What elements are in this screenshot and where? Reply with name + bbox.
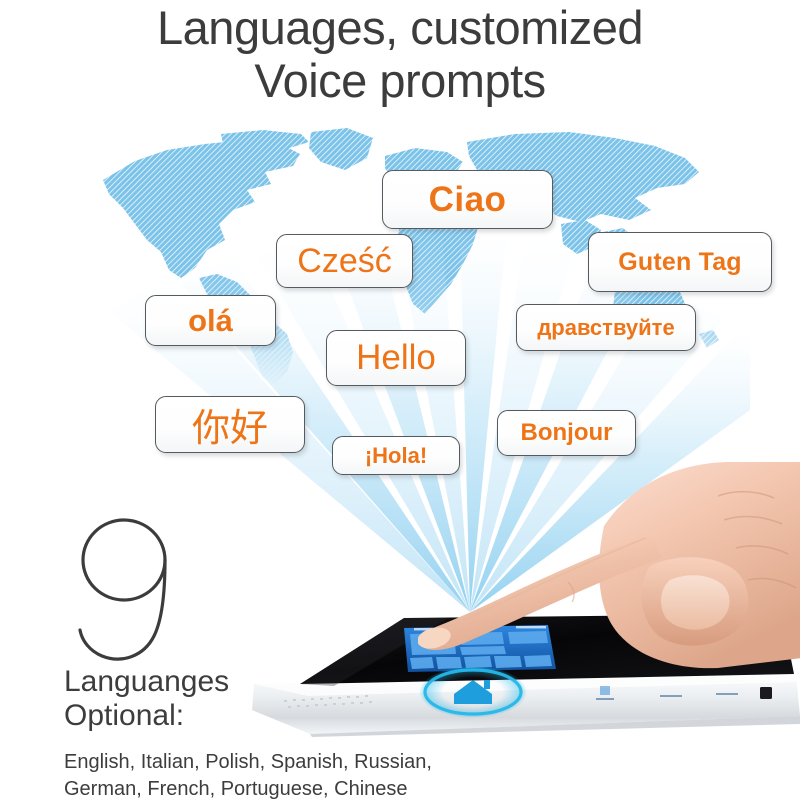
bubble-text: Ciao	[429, 180, 507, 220]
language-bubble-guten-tag[interactable]: Guten Tag	[588, 232, 772, 292]
language-list-line-1: English, Italian, Polish, Spanish, Russi…	[64, 751, 432, 773]
language-bubble-hello[interactable]: Hello	[326, 330, 466, 386]
language-list: English, Italian, Polish, Spanish, Russi…	[64, 749, 432, 800]
bubble-text: дравствуйте	[537, 315, 674, 341]
title-line-1: Languages, customized	[0, 0, 800, 55]
caption-line-1: Languanges	[64, 665, 229, 698]
page-title: Languages, customized Voice prompts	[0, 0, 800, 107]
language-bubble-ola[interactable]: olá	[145, 295, 276, 346]
poster-canvas: Languages, customized Voice prompts	[0, 0, 800, 800]
caption-line-2: Optional:	[64, 699, 229, 733]
hand-pointing	[418, 462, 800, 694]
language-bubble-ciao[interactable]: Ciao	[382, 170, 553, 229]
language-list-line-2: German, French, Portuguese, Chinese	[64, 776, 432, 800]
bubble-text: Hello	[356, 338, 436, 378]
language-bubble-bonjour[interactable]: Bonjour	[497, 410, 636, 456]
bubble-text: Bonjour	[521, 419, 613, 447]
title-line-2: Voice prompts	[0, 55, 800, 108]
language-bubble-czesc[interactable]: Cześć	[276, 234, 413, 288]
numeral-nine-outline	[80, 520, 165, 659]
language-bubble-nihao[interactable]: 你好	[155, 396, 305, 453]
bubble-text: Guten Tag	[618, 248, 742, 277]
bubble-text: Cześć	[297, 242, 391, 281]
caption-heading: Languanges Optional:	[64, 665, 229, 732]
languages-count-badge: 9	[66, 508, 186, 673]
language-bubble-russian[interactable]: дравствуйте	[516, 304, 696, 351]
bubble-text: 你好	[192, 397, 268, 452]
bubble-text: olá	[188, 303, 233, 339]
